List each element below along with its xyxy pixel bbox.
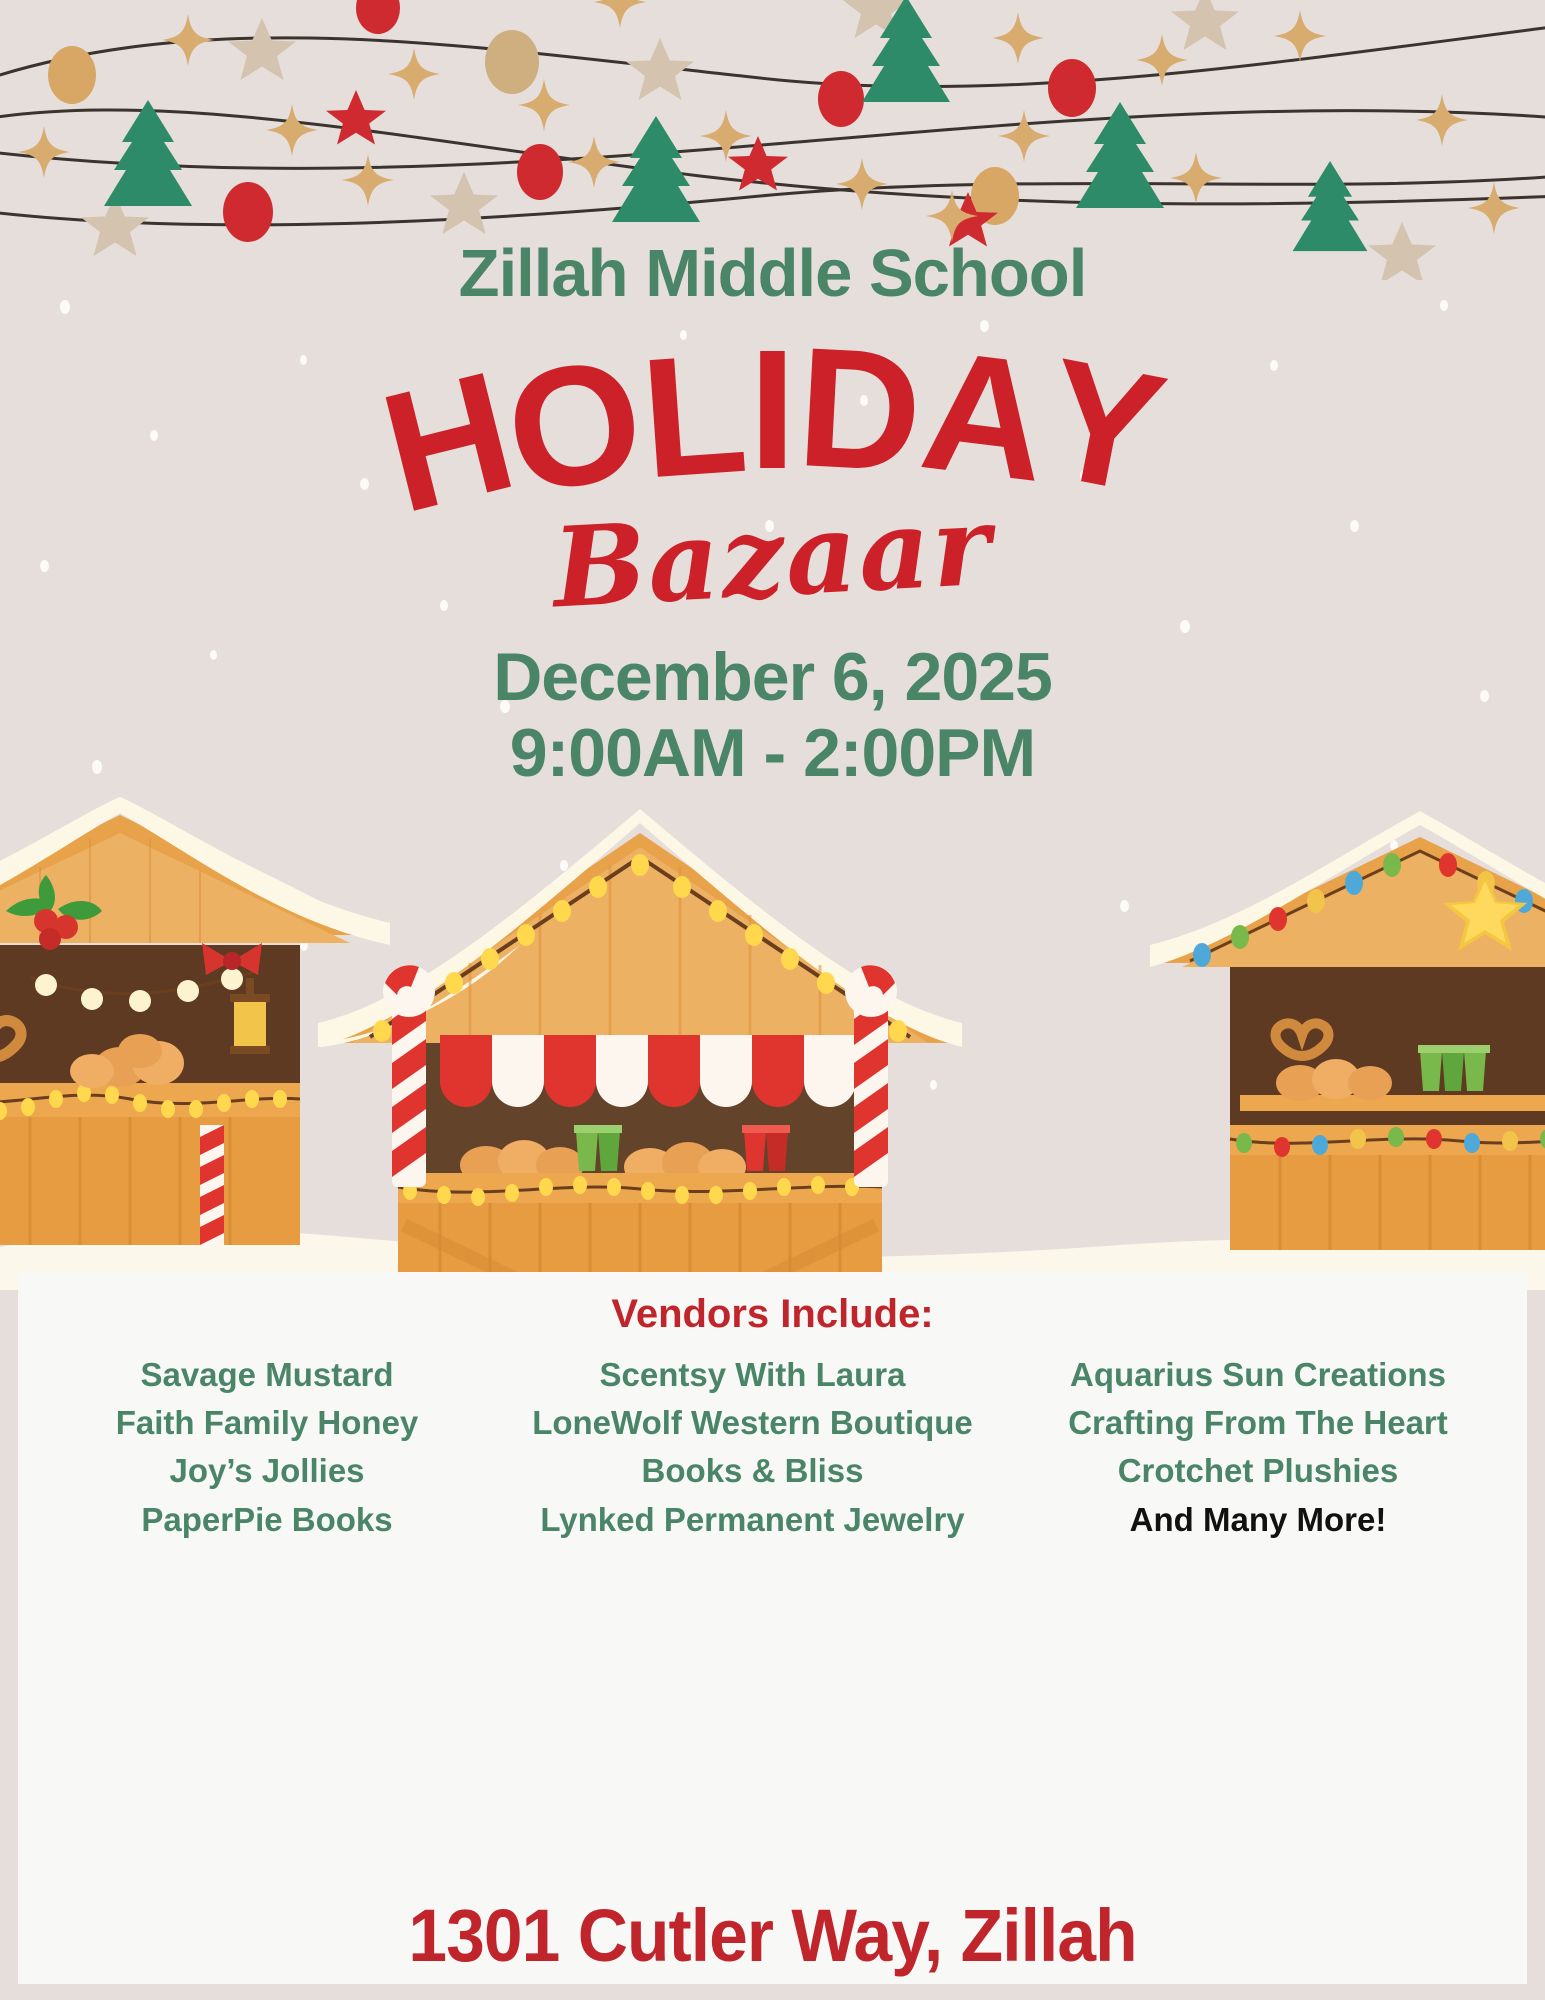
vendors-title: Vendors Include: — [18, 1292, 1527, 1337]
event-address: 1301 Cutler Way, Zillah — [63, 1893, 1481, 1978]
holiday-letter: D — [794, 322, 926, 498]
event-date: December 6, 2025 — [0, 639, 1545, 715]
vendor-name: Books & Bliss — [493, 1447, 1013, 1495]
holiday-letter: I — [749, 325, 796, 495]
drink-cup-icon — [1418, 1045, 1490, 1091]
event-time: 9:00AM - 2:00PM — [0, 715, 1545, 791]
vendor-name: Crafting From The Heart — [1023, 1399, 1493, 1447]
vendor-name: Faith Family Honey — [52, 1399, 482, 1447]
vendor-name: LoneWolf Western Boutique — [493, 1399, 1013, 1447]
vendors-panel: Vendors Include: Savage Mustard Faith Fa… — [18, 1272, 1527, 1984]
vendor-name: Lynked Permanent Jewelry — [493, 1496, 1013, 1544]
vendor-name: Scentsy With Laura — [493, 1351, 1013, 1399]
vendor-column-middle: Scentsy With Laura LoneWolf Western Bout… — [493, 1351, 1013, 1544]
vendors-columns: Savage Mustard Faith Family Honey Joy’s … — [18, 1337, 1527, 1544]
holiday-bazaar-flyer: Zillah Middle School H O L I D A Y Bazaa… — [0, 0, 1545, 2000]
ornament-ball — [48, 0, 1096, 242]
and-many-more-label: And Many More! — [1023, 1496, 1493, 1544]
vendor-column-left: Savage Mustard Faith Family Honey Joy’s … — [52, 1351, 482, 1544]
vendor-name: PaperPie Books — [52, 1496, 482, 1544]
vendor-name: Joy’s Jollies — [52, 1447, 482, 1495]
vendor-name: Aquarius Sun Creations — [1023, 1351, 1493, 1399]
holiday-letter: O — [496, 332, 653, 521]
market-stall-right — [1150, 811, 1545, 1250]
vendor-name: Savage Mustard — [52, 1351, 482, 1399]
vendor-name: Crotchet Plushies — [1023, 1447, 1493, 1495]
holiday-letter: L — [637, 328, 752, 505]
market-stall-center — [318, 809, 962, 1290]
market-stalls-illustration — [0, 795, 1545, 1290]
candy-cane-icon — [200, 1125, 224, 1245]
vendor-column-right: Aquarius Sun Creations Crafting From The… — [1023, 1351, 1493, 1544]
page-title: Zillah Middle School — [0, 240, 1545, 307]
headline-block: Zillah Middle School H O L I D A Y Bazaa… — [0, 240, 1545, 791]
